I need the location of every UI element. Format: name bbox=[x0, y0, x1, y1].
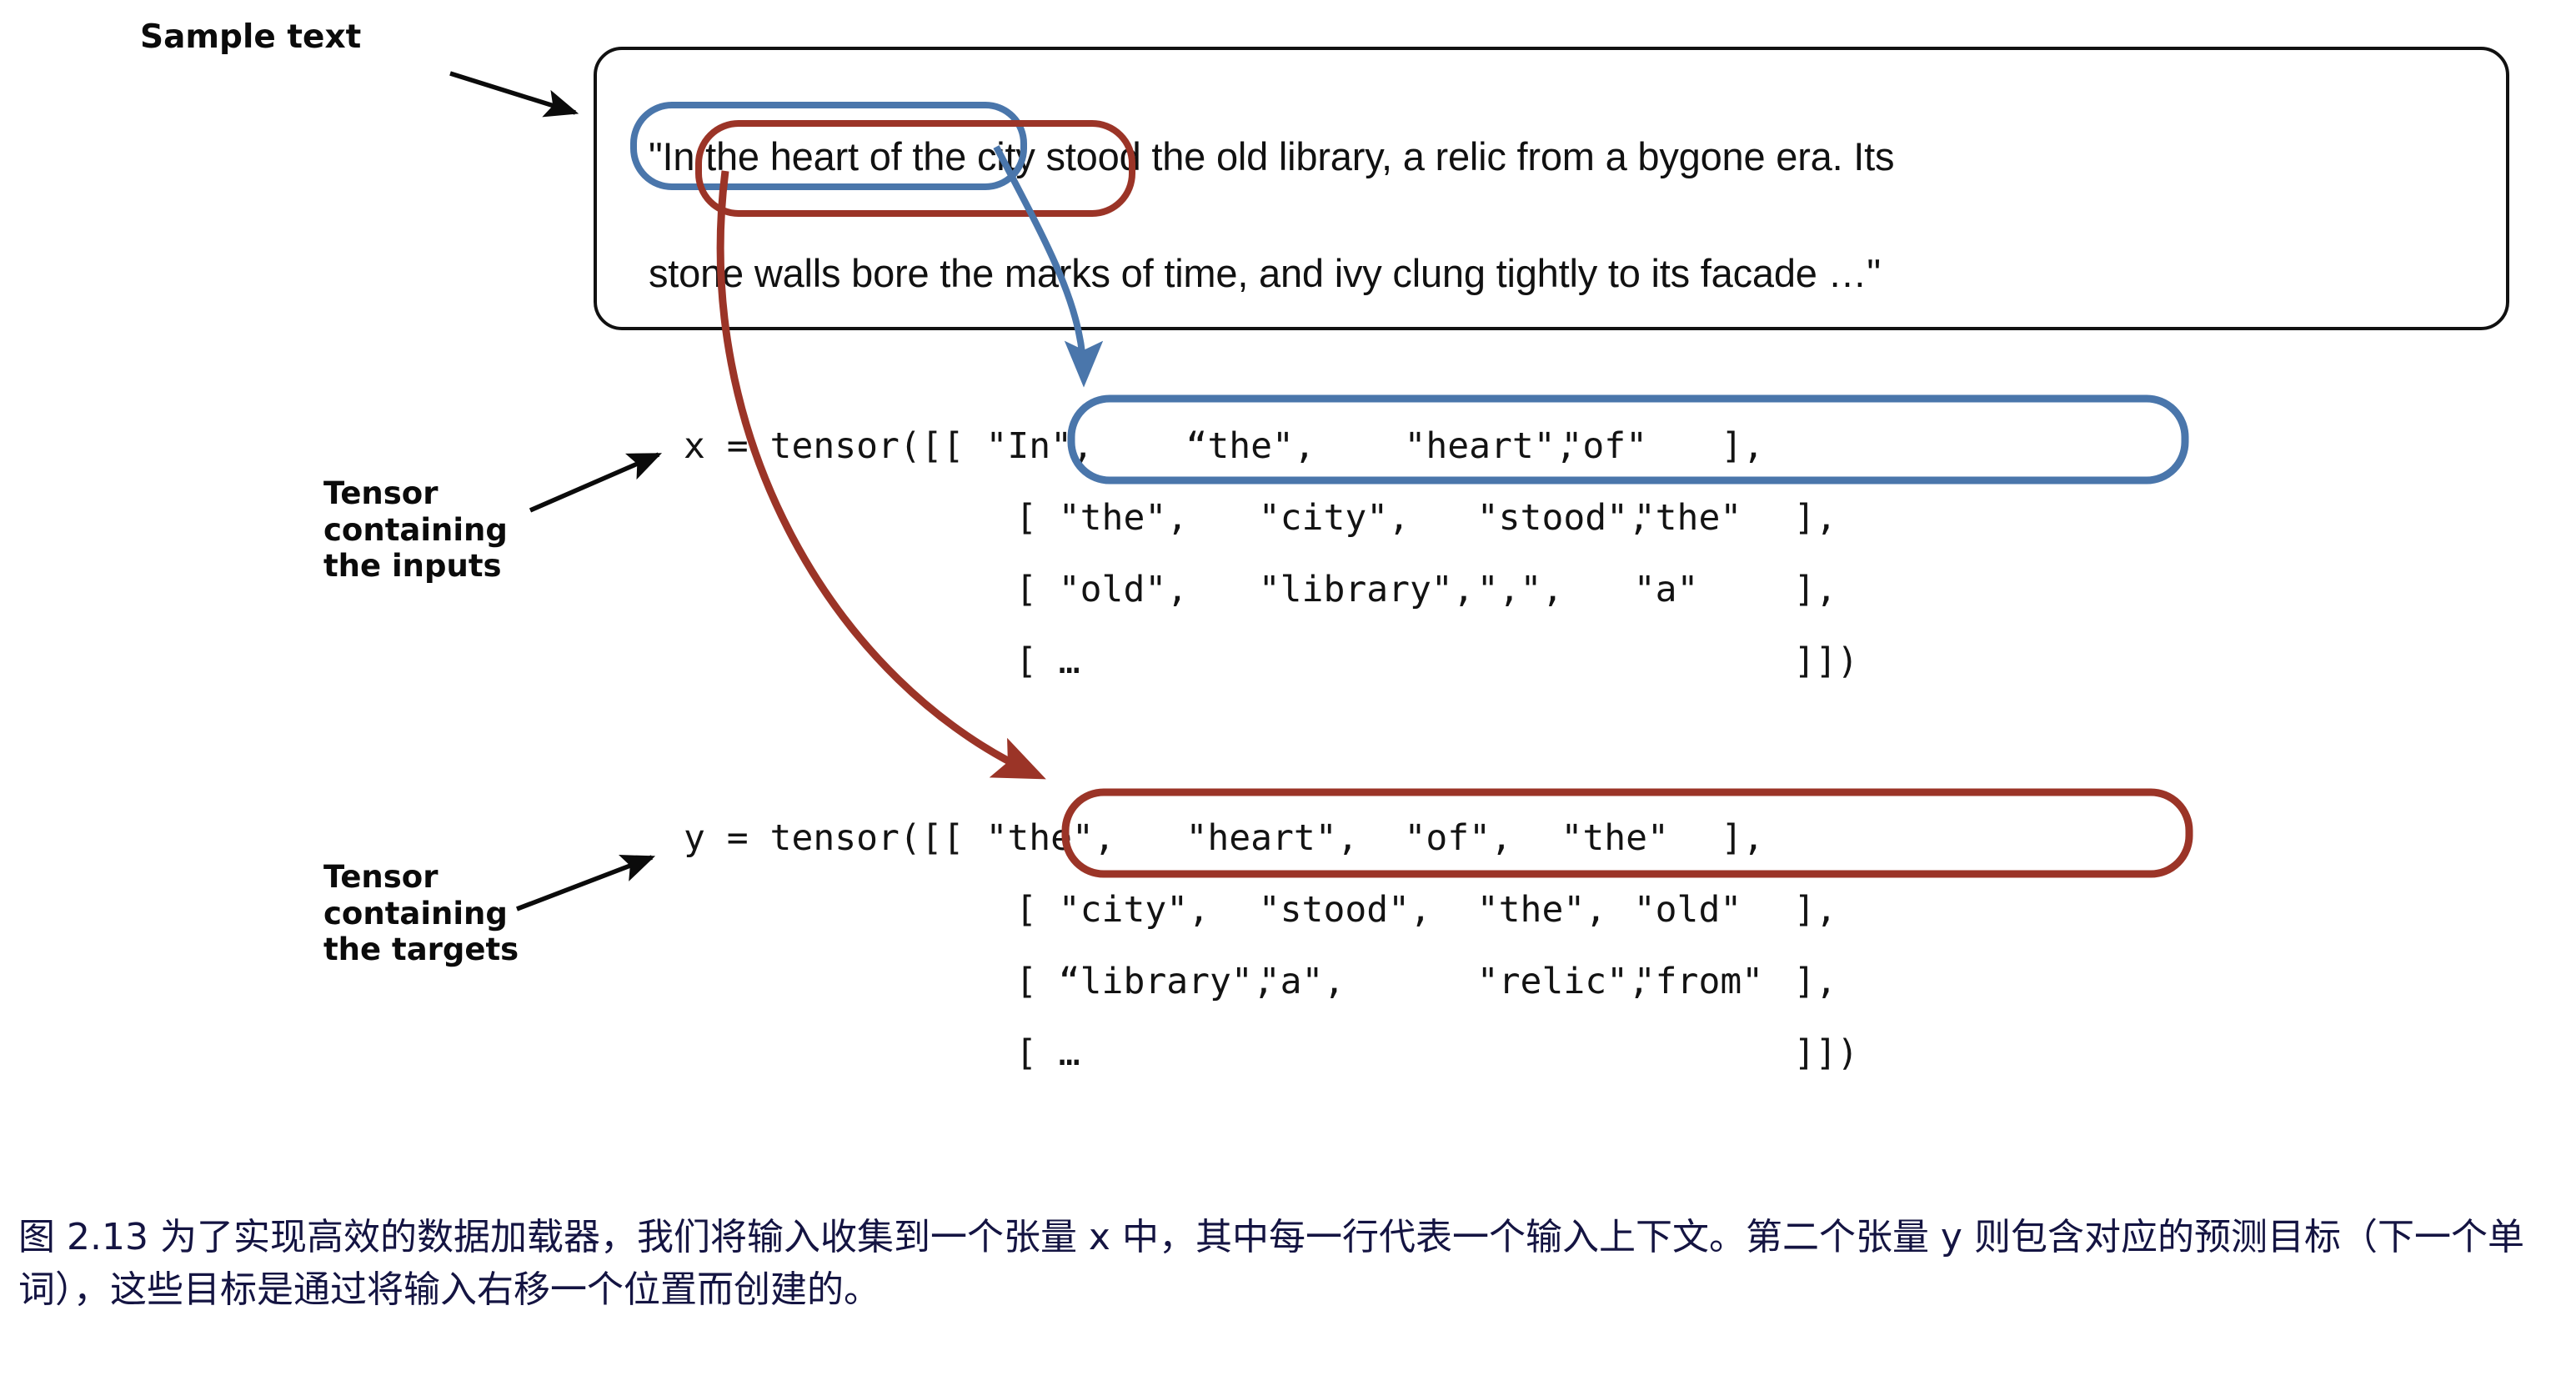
tensor-row: y = tensor([[ "the","heart","of","the"], bbox=[684, 802, 1858, 874]
tensor-y-code: y = tensor([[ "the","heart","of","the"],… bbox=[684, 802, 1858, 1089]
tensor-row-close: ], bbox=[1684, 802, 1764, 874]
tensor-cell: "heart", bbox=[1404, 410, 1561, 482]
sample-text-line-1: "In the heart of the city stood the old … bbox=[649, 133, 1894, 179]
tensor-row-close: ]]) bbox=[1757, 625, 1859, 697]
tensor-cell: "of", bbox=[1404, 802, 1561, 874]
tensor-row-bracket: [ bbox=[684, 874, 1059, 946]
tensor-cell: “library", bbox=[1059, 946, 1259, 1017]
tensor-cell: "the" bbox=[1561, 802, 1684, 874]
tensor-row: [ "city","stood","the","old"], bbox=[684, 874, 1858, 946]
tensor-row-cells: "city","stood","the","old" bbox=[1059, 874, 1757, 946]
tensor-cell: "stood", bbox=[1477, 482, 1634, 554]
tensor-row-cells: "In",“the","heart","of" bbox=[985, 410, 1684, 482]
tensor-cell: “the", bbox=[1185, 410, 1404, 482]
tensor-row-bracket: [ bbox=[684, 482, 1059, 554]
tensor-assignment: y = tensor([[ bbox=[684, 802, 985, 874]
tensor-row: x = tensor([[ "In",“the","heart","of"], bbox=[684, 410, 1858, 482]
tensor-cell: "the", bbox=[1477, 874, 1634, 946]
tensor-assignment: x = tensor([[ bbox=[684, 410, 985, 482]
tensor-cell: ",", bbox=[1477, 554, 1634, 625]
leader-arrow-targets bbox=[517, 857, 652, 909]
tensor-cell: "from" bbox=[1634, 946, 1757, 1017]
tensor-row-cells: "old","library",",","a" bbox=[1059, 554, 1757, 625]
tensor-cell: … bbox=[1059, 625, 1259, 697]
tensor-cell: "of" bbox=[1561, 410, 1684, 482]
tensor-row-close: ], bbox=[1684, 410, 1764, 482]
tensor-row: [ "old","library",",","a"], bbox=[684, 554, 1858, 625]
tensor-cell: … bbox=[1059, 1017, 1259, 1089]
tensor-cell: "a" bbox=[1634, 554, 1757, 625]
tensor-row-close: ], bbox=[1757, 946, 1837, 1017]
callout-label-targets: Tensor containing the targets bbox=[323, 859, 519, 968]
tensor-cell: "a", bbox=[1259, 946, 1477, 1017]
tensor-row: [ "the","city","stood","the"], bbox=[684, 482, 1858, 554]
tensor-row-cells: … bbox=[1059, 625, 1757, 697]
tensor-row: [ …]]) bbox=[684, 1017, 1858, 1089]
tensor-cell: "stood", bbox=[1259, 874, 1477, 946]
tensor-row-close: ], bbox=[1757, 554, 1837, 625]
tensor-cell: "the" bbox=[1634, 482, 1757, 554]
tensor-row-bracket: [ bbox=[684, 1017, 1059, 1089]
tensor-row-bracket: [ bbox=[684, 625, 1059, 697]
leader-arrow-sample-text bbox=[450, 73, 575, 113]
tensor-row-close: ]]) bbox=[1757, 1017, 1859, 1089]
tensor-cell: "the", bbox=[1059, 482, 1259, 554]
callout-label-inputs: Tensor containing the inputs bbox=[323, 475, 508, 585]
figure-caption: 图 2.13 为了实现高效的数据加载器，我们将输入收集到一个张量 x 中，其中每… bbox=[18, 1211, 2553, 1317]
figure-canvas: "In the heart of the city stood the old … bbox=[0, 0, 2576, 1391]
tensor-cell: "city", bbox=[1259, 482, 1477, 554]
tensor-cell: "city", bbox=[1059, 874, 1259, 946]
tensor-cell: "relic", bbox=[1477, 946, 1634, 1017]
tensor-row: [ “library","a","relic","from"], bbox=[684, 946, 1858, 1017]
tensor-row-close: ], bbox=[1757, 874, 1837, 946]
sample-text-line-2: stone walls bore the marks of time, and … bbox=[649, 250, 1881, 296]
tensor-row-cells: “library","a","relic","from" bbox=[1059, 946, 1757, 1017]
sample-text-panel: "In the heart of the city stood the old … bbox=[594, 47, 2509, 330]
tensor-cell: "old" bbox=[1634, 874, 1757, 946]
leader-arrow-inputs bbox=[530, 454, 659, 510]
tensor-x-code: x = tensor([[ "In",“the","heart","of"],[… bbox=[684, 410, 1858, 697]
tensor-cell: "the", bbox=[985, 802, 1185, 874]
tensor-cell: "heart", bbox=[1185, 802, 1404, 874]
tensor-row-cells: "the","heart","of","the" bbox=[985, 802, 1684, 874]
tensor-row-bracket: [ bbox=[684, 554, 1059, 625]
tensor-cell: "library", bbox=[1259, 554, 1477, 625]
tensor-row-close: ], bbox=[1757, 482, 1837, 554]
tensor-row: [ …]]) bbox=[684, 625, 1858, 697]
tensor-row-bracket: [ bbox=[684, 946, 1059, 1017]
tensor-row-cells: "the","city","stood","the" bbox=[1059, 482, 1757, 554]
callout-label-sample-text: Sample text bbox=[140, 18, 361, 57]
tensor-row-cells: … bbox=[1059, 1017, 1757, 1089]
tensor-cell: "old", bbox=[1059, 554, 1259, 625]
tensor-cell: "In", bbox=[985, 410, 1185, 482]
